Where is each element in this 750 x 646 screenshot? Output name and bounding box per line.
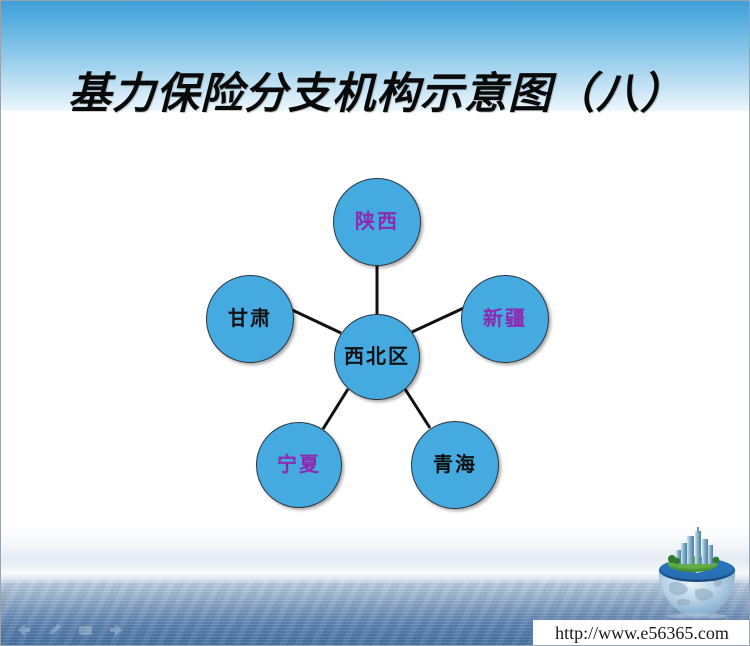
node-northwest-region[interactable]: 西北区 (334, 314, 420, 400)
page-title: 基力保险分支机构示意图（八） (1, 59, 750, 121)
node-xinjiang[interactable]: 新疆 (461, 275, 549, 363)
slideshow-nav-controls[interactable] (15, 623, 125, 637)
next-arrow-icon[interactable] (108, 623, 125, 637)
watermark-url: http://www.e56365.com (555, 623, 729, 644)
slide-menu-icon[interactable] (77, 623, 94, 637)
slide-canvas: 基力保险分支机构示意图（八） 陕西 新疆 青海 宁夏 甘肃 西北区 (0, 0, 750, 646)
globe-city-logo (651, 526, 743, 618)
watermark-url-band: http://www.e56365.com (533, 620, 750, 646)
node-xinjiang-label: 新疆 (483, 309, 527, 329)
node-qinghai-label: 青海 (433, 455, 477, 475)
pen-icon[interactable] (46, 623, 63, 637)
previous-arrow-icon[interactable] (15, 623, 32, 637)
node-qinghai[interactable]: 青海 (411, 421, 499, 509)
node-ningxia[interactable]: 宁夏 (256, 422, 342, 508)
node-gansu-label: 甘肃 (228, 309, 272, 329)
node-ningxia-label: 宁夏 (277, 455, 321, 475)
node-gansu[interactable]: 甘肃 (206, 275, 294, 363)
node-shaanxi[interactable]: 陕西 (333, 178, 421, 266)
node-northwest-region-label: 西北区 (344, 347, 410, 367)
node-shaanxi-label: 陕西 (355, 212, 399, 232)
